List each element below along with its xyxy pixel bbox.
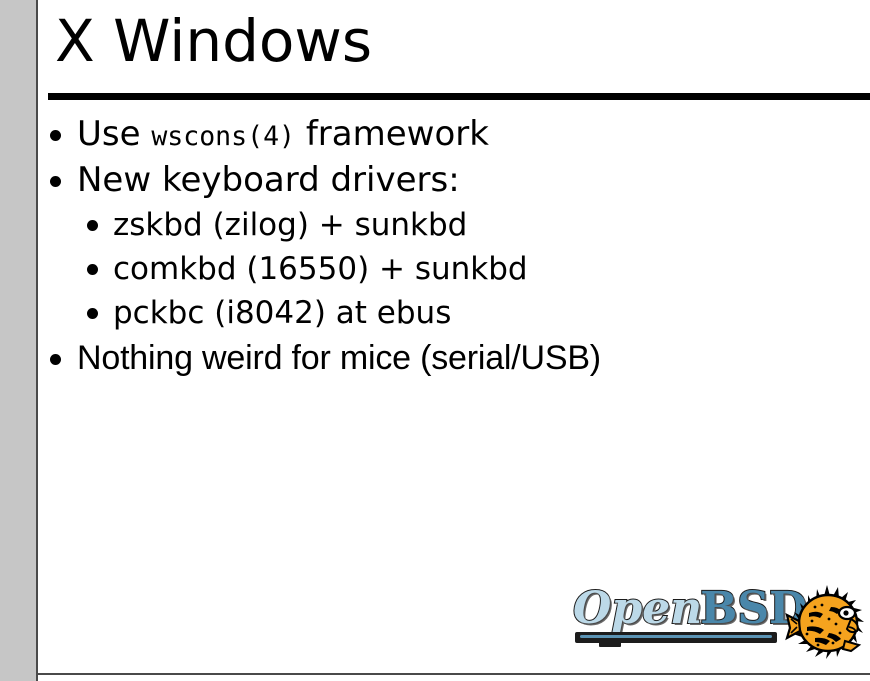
openbsd-wordmark: OpenBSD	[573, 585, 783, 647]
sub-bullet-text: pckbc (i8042) at ebus	[113, 291, 870, 335]
sub-bullet-item: comkbd (16550) + sunkbd	[38, 247, 870, 291]
openbsd-logo: OpenBSD	[573, 583, 868, 665]
slide: X Windows Use wscons(4) framework New ke…	[0, 0, 870, 681]
bullet-text-segment: Use	[77, 114, 151, 154]
wordmark-shelf-foot	[599, 638, 621, 647]
slide-title: X Windows	[55, 12, 372, 70]
bullet-dot-icon	[50, 176, 61, 187]
bullet-dot-icon	[87, 264, 98, 275]
bullet-dot-icon	[87, 220, 98, 231]
manpage-reference: wscons(4)	[151, 121, 295, 152]
bullet-text: Use wscons(4) framework	[77, 111, 870, 160]
wordmark-open-text: Open	[573, 583, 702, 634]
sub-bullet-text: zskbd (zilog) + sunkbd	[113, 203, 870, 247]
bullet-item: Nothing weird for mice (serial/USB)	[38, 335, 870, 381]
bullet-text-segment: framework	[295, 114, 489, 154]
slide-bottom-rule	[36, 673, 870, 675]
bullet-dot-icon	[87, 308, 98, 319]
sub-bullet-item: pckbc (i8042) at ebus	[38, 291, 870, 335]
bullet-dot-icon	[50, 354, 61, 365]
puffy-pufferfish-icon	[785, 583, 868, 663]
sub-bullet-item: zskbd (zilog) + sunkbd	[38, 203, 870, 247]
slide-canvas: X Windows Use wscons(4) framework New ke…	[38, 0, 870, 673]
sub-bullet-text: comkbd (16550) + sunkbd	[113, 247, 870, 291]
title-underline-rule	[48, 93, 870, 100]
bullet-text: Nothing weird for mice (serial/USB)	[77, 335, 870, 381]
bullet-text: New keyboard drivers:	[77, 157, 870, 203]
bullet-item: New keyboard drivers:	[38, 157, 870, 203]
left-gutter-strip	[0, 0, 36, 681]
openbsd-wordmark-text: OpenBSD	[573, 585, 807, 633]
bullet-dot-icon	[50, 130, 61, 141]
bullet-item: Use wscons(4) framework	[38, 111, 870, 157]
bullet-list: Use wscons(4) framework New keyboard dri…	[38, 111, 870, 381]
